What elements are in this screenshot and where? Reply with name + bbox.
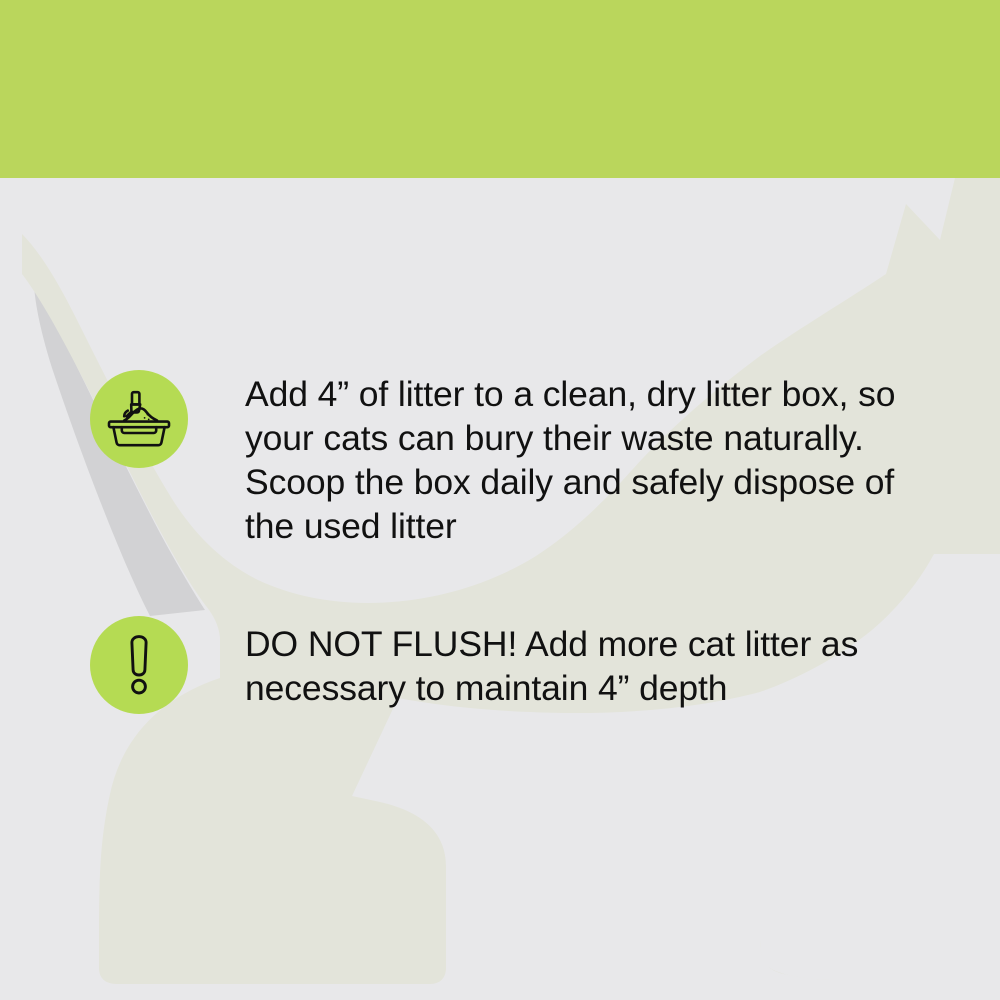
exclamation-mark-icon [90,616,188,714]
how-to-use-infographic: How to Use? [0,0,1000,1000]
instruction-item-1: Add 4” of litter to a clean, dry litter … [90,368,917,548]
instruction-text-1: Add 4” of litter to a clean, dry litter … [245,368,917,548]
instruction-item-2: DO NOT FLUSH! Add more cat litter as nec… [90,612,917,714]
instruction-text-2: DO NOT FLUSH! Add more cat litter as nec… [245,612,917,710]
litter-box-scoop-icon [90,370,188,468]
header-band [0,0,1000,178]
instructions-list: Add 4” of litter to a clean, dry litter … [0,178,1000,1000]
